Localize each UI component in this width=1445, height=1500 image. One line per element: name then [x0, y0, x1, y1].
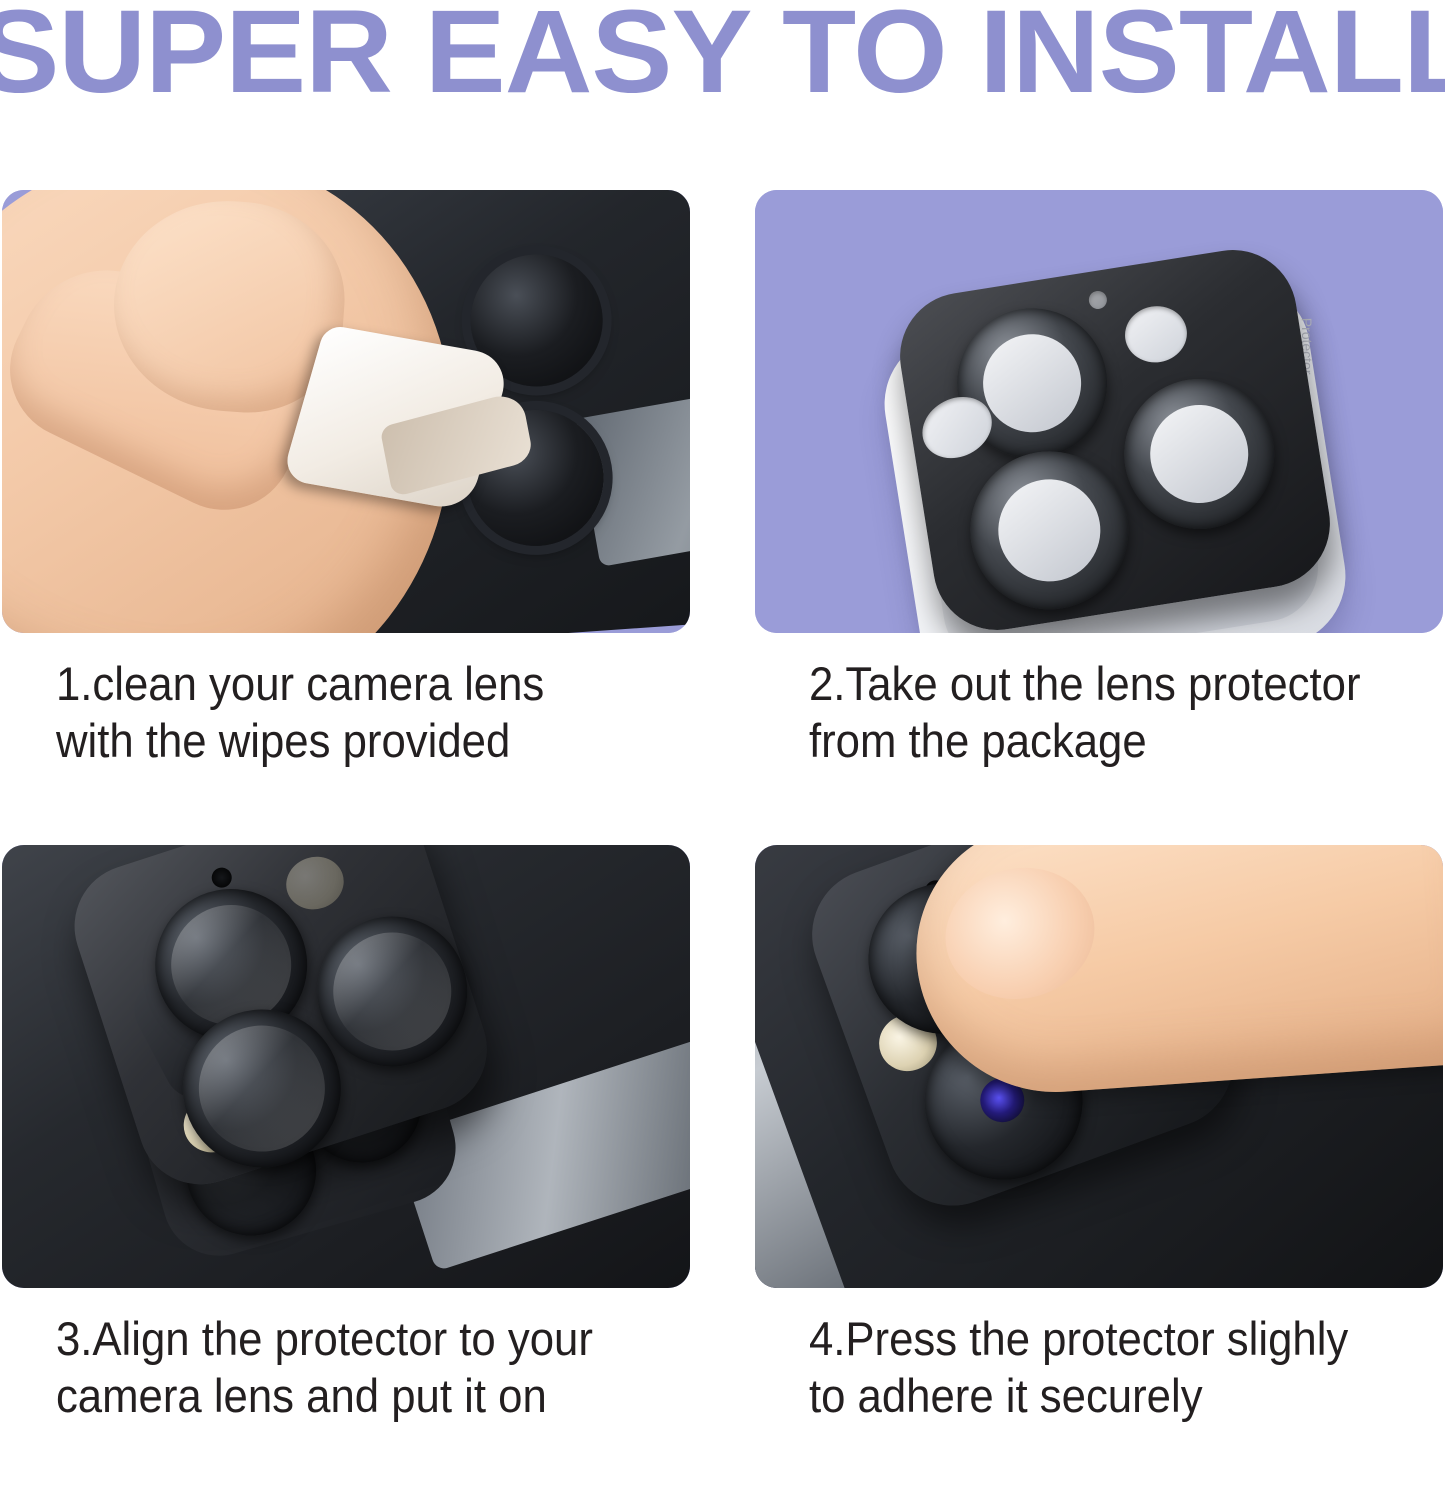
step-4-photo — [755, 845, 1443, 1288]
step-3-photo — [2, 845, 690, 1288]
flash-cutout-icon — [279, 849, 350, 916]
protector-glass-icon — [182, 1009, 341, 1168]
phone-body-icon — [2, 845, 690, 1288]
step-2: 9H Glass/Aviation aluminum Protector — [755, 190, 1443, 840]
steps-row-top: 1.clean your camera lens with the wipes … — [0, 190, 1445, 845]
step-4: 4.Press the protector slighly to adhere … — [755, 845, 1443, 1495]
fingernail-icon — [931, 852, 1108, 1014]
protector-mic-cutout-icon — [1088, 290, 1109, 311]
microphone-icon — [209, 865, 234, 890]
steps-row-bottom: 3.Align the protector to your camera len… — [0, 845, 1445, 1500]
protector-glass-icon — [318, 917, 467, 1066]
protector-ring-icon — [959, 440, 1140, 621]
lens-protector-icon — [891, 241, 1339, 633]
step-2-caption: 2.Take out the lens protector from the p… — [755, 655, 1395, 769]
finger-icon — [908, 845, 1443, 1101]
protector-ring-icon — [1113, 368, 1285, 540]
protector-ring-hole-icon — [1143, 398, 1255, 510]
protector-ring-hole-icon — [991, 472, 1108, 589]
protector-flash-cutout-icon — [1121, 302, 1191, 367]
step-2-photo: 9H Glass/Aviation aluminum Protector — [755, 190, 1443, 633]
step-1: 1.clean your camera lens with the wipes … — [2, 190, 690, 840]
phone-body-icon — [755, 845, 1443, 1288]
step-3: 3.Align the protector to your camera len… — [2, 845, 690, 1495]
page-title: SUPER EASY TO INSTALL — [0, 0, 1445, 112]
step-1-caption: 1.clean your camera lens with the wipes … — [2, 655, 642, 769]
step-3-caption: 3.Align the protector to your camera len… — [2, 1310, 642, 1424]
protector-ring-hole-icon — [976, 327, 1088, 439]
step-4-caption: 4.Press the protector slighly to adhere … — [755, 1310, 1395, 1424]
step-1-photo — [2, 190, 690, 633]
